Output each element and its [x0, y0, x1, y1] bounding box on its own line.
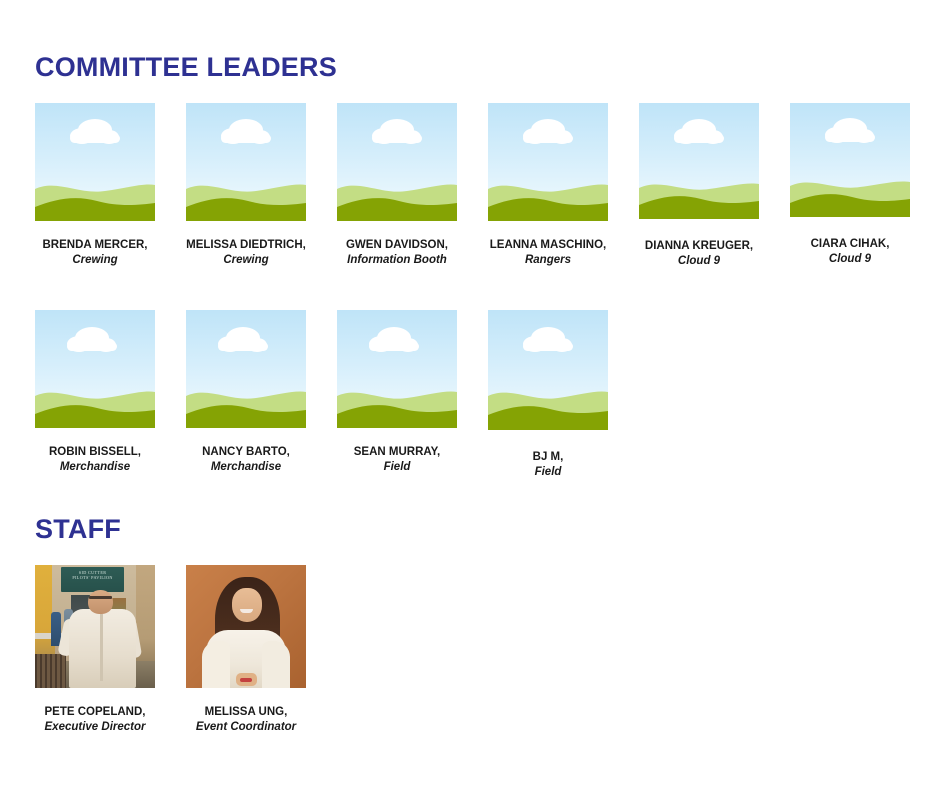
- landscape-placeholder-image: [337, 103, 457, 221]
- person-card-nancy-barto[interactable]: NANCY BARTO, Merchandise: [186, 310, 306, 475]
- person-role: Field: [317, 460, 477, 475]
- person-card-pete-copeland[interactable]: SID CUTTER PILOTS' PAVILION: [35, 565, 155, 735]
- person-card-leanna-maschino[interactable]: LEANNA MASCHINO, Rangers: [488, 103, 608, 268]
- person-name: ROBIN BISSELL,: [15, 445, 175, 460]
- person-role: Event Coordinator: [166, 720, 326, 735]
- person-caption: ROBIN BISSELL, Merchandise: [15, 445, 175, 475]
- page-title-committee-leaders: COMMITTEE LEADERS: [35, 51, 337, 83]
- person-caption: SEAN MURRAY, Field: [317, 445, 477, 475]
- photo-sign-line-2: PILOTS' PAVILION: [72, 575, 112, 580]
- person-card-sean-murray[interactable]: SEAN MURRAY, Field: [337, 310, 457, 475]
- person-name: MELISSA DIEDTRICH,: [166, 238, 326, 253]
- photo-person-face: [232, 588, 262, 621]
- person-card-gwen-davidson[interactable]: GWEN DAVIDSON, Information Booth: [337, 103, 457, 268]
- landscape-placeholder-image: [639, 103, 759, 219]
- person-caption: MELISSA DIEDTRICH, Crewing: [166, 238, 326, 268]
- person-caption: BRENDA MERCER, Crewing: [15, 238, 175, 268]
- person-card-dianna-kreuger[interactable]: DIANNA KREUGER, Cloud 9: [639, 103, 759, 269]
- person-role: Crewing: [166, 253, 326, 268]
- landscape-placeholder-image: [186, 310, 306, 428]
- person-caption: MELISSA UNG, Event Coordinator: [166, 705, 326, 735]
- photo-sleeve-left: [202, 641, 231, 688]
- person-caption: DIANNA KREUGER, Cloud 9: [619, 239, 779, 269]
- staff-photo-melissa-ung: [186, 565, 306, 688]
- person-role: Merchandise: [15, 460, 175, 475]
- person-role: Crewing: [15, 253, 175, 268]
- photo-pavilion-sign: SID CUTTER PILOTS' PAVILION: [61, 567, 123, 592]
- person-caption: BJ M, Field: [468, 450, 628, 480]
- person-role: Field: [468, 465, 628, 480]
- landscape-placeholder-image: [35, 310, 155, 428]
- photo-sleeve-right: [262, 641, 291, 688]
- person-name: CIARA CIHAK,: [770, 237, 930, 252]
- person-card-bj-m[interactable]: BJ M, Field: [488, 310, 608, 480]
- landscape-placeholder-image: [488, 103, 608, 221]
- committee-leaders-row-1: BRENDA MERCER, Crewing MELISSA DIEDTRICH…: [35, 103, 910, 269]
- page-title-staff: STAFF: [35, 513, 121, 545]
- person-card-ciara-cihak[interactable]: CIARA CIHAK, Cloud 9: [790, 103, 910, 267]
- person-card-brenda-mercer[interactable]: BRENDA MERCER, Crewing: [35, 103, 155, 268]
- person-caption: LEANNA MASCHINO, Rangers: [468, 238, 628, 268]
- staff-photo-pete-copeland: SID CUTTER PILOTS' PAVILION: [35, 565, 155, 688]
- landscape-placeholder-image: [35, 103, 155, 221]
- photo-person-glasses: [89, 596, 112, 599]
- landscape-placeholder-image: [186, 103, 306, 221]
- person-role: Executive Director: [15, 720, 175, 735]
- person-name: DIANNA KREUGER,: [619, 239, 779, 254]
- person-card-robin-bissell[interactable]: ROBIN BISSELL, Merchandise: [35, 310, 155, 475]
- person-role: Information Booth: [317, 253, 477, 268]
- photo-sign-text: SID CUTTER PILOTS' PAVILION: [61, 570, 123, 580]
- person-name: BJ M,: [468, 450, 628, 465]
- person-caption: NANCY BARTO, Merchandise: [166, 445, 326, 475]
- person-name: MELISSA UNG,: [166, 705, 326, 720]
- person-card-melissa-diedtrich[interactable]: MELISSA DIEDTRICH, Crewing: [186, 103, 306, 268]
- person-caption: GWEN DAVIDSON, Information Booth: [317, 238, 477, 268]
- person-role: Merchandise: [166, 460, 326, 475]
- person-caption: CIARA CIHAK, Cloud 9: [770, 237, 930, 267]
- landscape-placeholder-image: [337, 310, 457, 428]
- person-name: PETE COPELAND,: [15, 705, 175, 720]
- staff-row-1: SID CUTTER PILOTS' PAVILION: [35, 565, 306, 735]
- photo-shirt-placket: [100, 614, 103, 680]
- photo-fence: [35, 654, 66, 688]
- person-name: NANCY BARTO,: [166, 445, 326, 460]
- person-name: SEAN MURRAY,: [317, 445, 477, 460]
- person-role: Cloud 9: [619, 254, 779, 269]
- photo-person-nails: [240, 678, 252, 682]
- person-role: Cloud 9: [770, 252, 930, 267]
- person-card-melissa-ung[interactable]: MELISSA UNG, Event Coordinator: [186, 565, 306, 735]
- team-directory-page: COMMITTEE LEADERS: [0, 0, 940, 788]
- landscape-placeholder-image: [790, 103, 910, 217]
- person-role: Rangers: [468, 253, 628, 268]
- person-caption: PETE COPELAND, Executive Director: [15, 705, 175, 735]
- person-name: LEANNA MASCHINO,: [468, 238, 628, 253]
- person-name: GWEN DAVIDSON,: [317, 238, 477, 253]
- landscape-placeholder-image: [488, 310, 608, 430]
- committee-leaders-row-2: ROBIN BISSELL, Merchandise NANCY BARTO, …: [35, 310, 608, 480]
- photo-person-head: [88, 590, 113, 615]
- person-name: BRENDA MERCER,: [15, 238, 175, 253]
